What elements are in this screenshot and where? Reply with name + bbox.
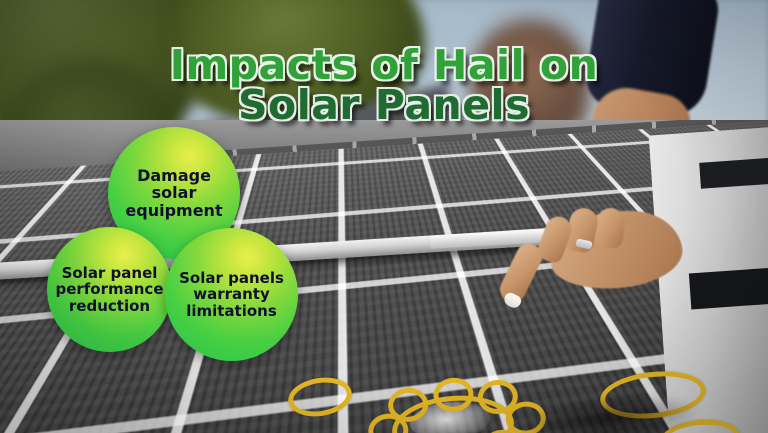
panel-frame-right-shadow	[689, 267, 768, 310]
bubble-label: Solar panels warranty limitations	[165, 270, 298, 320]
panel-frame-right-shadow-upper	[699, 157, 768, 189]
bubble-solar-panels-warranty-limitations[interactable]: Solar panels warranty limitations	[165, 228, 298, 361]
hand-finger-index	[496, 239, 547, 306]
bubble-label: Damage solar equipment	[108, 167, 240, 220]
hand-finger-pinky	[594, 207, 626, 250]
poster-canvas: Impacts of Hail on Solar Panels Damage s…	[0, 0, 768, 433]
bubble-label: Solar panel performance reduction	[47, 265, 172, 315]
pointing-hand	[492, 200, 692, 310]
bubble-solar-panel-performance-reduction[interactable]: Solar panel performance reduction	[47, 227, 172, 352]
